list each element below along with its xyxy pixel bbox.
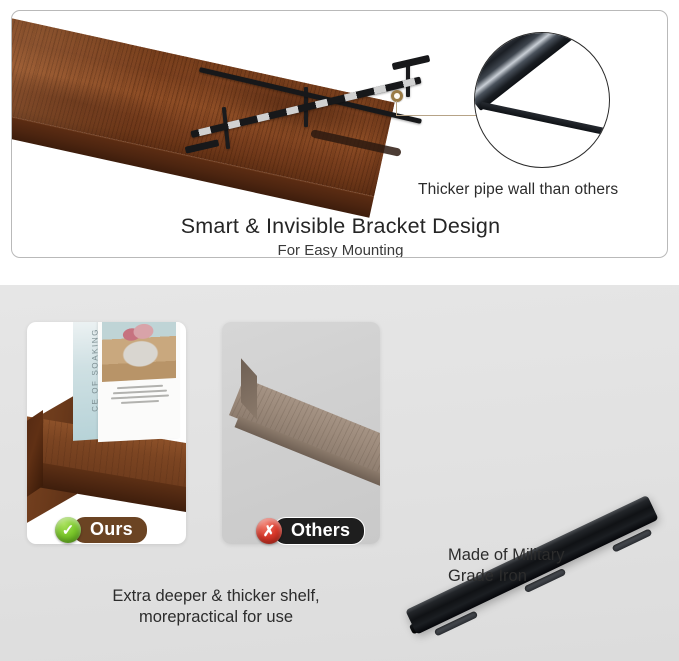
bracket-design-card: Thicker pipe wall than others Smart & In… — [11, 10, 668, 258]
check-circle-icon: ✓ — [55, 517, 81, 543]
hidden-bracket-rail — [192, 65, 442, 200]
ours-image-card: CE OF SOAKING — [27, 322, 186, 544]
bracket-rail-back — [199, 67, 422, 124]
subheadline: For Easy Mounting — [12, 242, 668, 258]
headline: Smart & Invisible Bracket Design — [12, 214, 668, 239]
book-cover-text-lines — [109, 384, 171, 407]
books-on-shelf: CE OF SOAKING — [73, 322, 181, 443]
ours-badge-label: Ours — [72, 516, 148, 544]
callout-label: Thicker pipe wall than others — [418, 181, 668, 199]
others-thin-shelf — [244, 378, 380, 488]
magnifier-circle — [474, 32, 610, 168]
zoomed-pipe-wall — [474, 32, 610, 111]
others-badge-label: Others — [273, 517, 365, 545]
others-image-card — [222, 322, 380, 544]
comparison-caption: Extra deeper & thicker shelf, morepracti… — [6, 586, 426, 628]
comparison-caption-line1: Extra deeper & thicker shelf, — [6, 586, 426, 607]
material-caption-line2: Grade Iron — [448, 566, 648, 587]
others-badge: ✗ Others — [256, 517, 365, 545]
shelf-underside-shadow — [310, 129, 402, 157]
book-teal-spine: CE OF SOAKING — [73, 322, 99, 441]
callout-leader-line — [396, 101, 397, 116]
book-white-cover — [98, 322, 180, 442]
material-caption: Made of Military Grade Iron — [448, 545, 648, 587]
zoomed-cross-bar — [480, 102, 610, 140]
ours-badge: ✓ Ours — [55, 516, 148, 544]
x-circle-icon: ✗ — [256, 518, 282, 544]
infographic-root: Thicker pipe wall than others Smart & In… — [0, 0, 679, 661]
material-caption-line1: Made of Military — [448, 545, 648, 566]
comparison-caption-line2: morepractical for use — [6, 607, 426, 628]
book-cover-photo — [102, 322, 176, 382]
